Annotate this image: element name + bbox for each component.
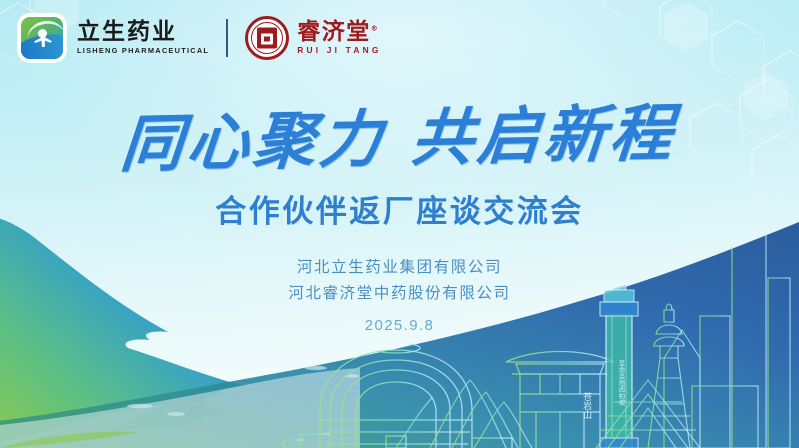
poster-canvas: 立生药业 LISHENG PHARMACEUTICAL 睿济堂® RUI JI …: [0, 0, 799, 448]
page-title: 同心聚力共启新程: [0, 88, 799, 178]
ruijitang-brand: 睿济堂® RUI JI TANG: [245, 16, 381, 60]
event-date: 2025.9.8: [0, 317, 799, 334]
ruijitang-name-cn: 睿济堂®: [297, 21, 381, 44]
monument-inscription: 革命圣地西柏坡: [613, 360, 625, 406]
ruijitang-round-seal-icon: [245, 16, 289, 60]
organization-list: 河北立生药业集团有限公司 河北睿济堂中药股份有限公司: [0, 255, 799, 306]
lisheng-name-en: LISHENG PHARMACEUTICAL: [77, 46, 209, 55]
organization-line-1: 河北立生药业集团有限公司: [0, 255, 799, 281]
brand-header: 立生药业 LISHENG PHARMACEUTICAL 睿济堂® RUI JI …: [18, 14, 382, 62]
lisheng-brand-name: 立生药业 LISHENG PHARMACEUTICAL: [77, 21, 209, 54]
headline-part-1: 同心聚力: [118, 102, 389, 181]
registered-mark-icon: ®: [371, 24, 378, 32]
vertical-divider-icon: [226, 19, 228, 57]
page-subtitle: 合作伙伴返厂座谈交流会: [0, 186, 799, 231]
organization-line-2: 河北睿济堂中药股份有限公司: [0, 281, 799, 307]
ruijitang-brand-name: 睿济堂® RUI JI TANG: [297, 21, 381, 55]
headline-part-2: 共启新程: [409, 96, 680, 175]
headline-calligraphy: 同心聚力共启新程: [118, 82, 681, 184]
ruijitang-name-cn-text: 睿济堂: [297, 19, 371, 45]
mountain-label: 苍岩山: [580, 392, 592, 419]
lisheng-name-cn: 立生药业: [77, 21, 209, 44]
lisheng-hexagon-logo-icon: [18, 14, 66, 62]
ruijitang-name-en: RUI JI TANG: [297, 45, 381, 55]
